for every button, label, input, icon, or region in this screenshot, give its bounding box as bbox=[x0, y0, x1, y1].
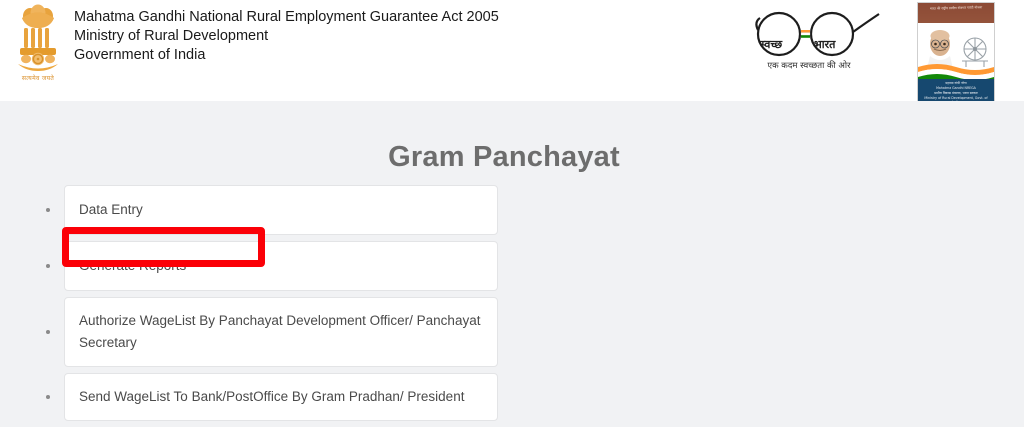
poster-bottom-text-1: महात्मा गांधी नरेगा bbox=[921, 81, 991, 85]
menu-item-label: Authorize WageList By Panchayat Developm… bbox=[79, 310, 483, 354]
header-branding: सत्यमेव जयते Mahatma Gandhi National Rur… bbox=[12, 4, 499, 82]
gandhi-poster-image: भारत की राष्ट्रीय ग्रामीण रोजगार गारंटी … bbox=[917, 2, 995, 102]
gram-panchayat-menu-list: Data Entry Generate Reports Authorize Wa… bbox=[38, 185, 498, 427]
site-header: सत्यमेव जयते Mahatma Gandhi National Rur… bbox=[0, 0, 1024, 101]
poster-bottom-text-2: Mahatma Gandhi NREGA bbox=[921, 86, 991, 90]
menu-item-send-wagelist[interactable]: Send WageList To Bank/PostOffice By Gram… bbox=[64, 373, 498, 421]
header-title-line-2: Ministry of Rural Development bbox=[74, 27, 499, 46]
list-item[interactable]: Generate Reports bbox=[38, 241, 498, 291]
menu-item-generate-reports[interactable]: Generate Reports bbox=[64, 241, 498, 291]
list-item[interactable]: Authorize WageList By Panchayat Developm… bbox=[38, 297, 498, 367]
list-item[interactable]: Data Entry bbox=[38, 185, 498, 235]
main-content: Gram Panchayat Data Entry Generate Repor… bbox=[0, 101, 1024, 418]
poster-bottom-band: महात्मा गांधी नरेगा Mahatma Gandhi NREGA… bbox=[918, 79, 994, 101]
swachh-lens-right-text: भारत bbox=[814, 37, 835, 52]
emblem-caption: सत्यमेव जयते bbox=[12, 74, 64, 82]
ashoka-emblem-icon: सत्यमेव जयते bbox=[12, 4, 64, 82]
menu-item-label: Generate Reports bbox=[79, 255, 186, 277]
header-title-block: Mahatma Gandhi National Rural Employment… bbox=[74, 4, 499, 65]
header-title-line-3: Government of India bbox=[74, 46, 499, 65]
menu-item-label: Send WageList To Bank/PostOffice By Gram… bbox=[79, 386, 464, 408]
menu-item-authorize-wagelist[interactable]: Authorize WageList By Panchayat Developm… bbox=[64, 297, 498, 367]
menu-item-data-entry[interactable]: Data Entry bbox=[64, 185, 498, 235]
page-title: Gram Panchayat bbox=[0, 141, 1008, 174]
swachh-lens-left-text: स्वच्छ bbox=[760, 37, 782, 52]
swachh-bharat-tagline: एक कदम स्वच्छता की ओर bbox=[748, 60, 870, 71]
list-item[interactable]: Send WageList To Bank/PostOffice By Gram… bbox=[38, 373, 498, 421]
header-title-line-1: Mahatma Gandhi National Rural Employment… bbox=[74, 8, 499, 27]
menu-item-label: Data Entry bbox=[79, 199, 143, 221]
swachh-bharat-glasses-icon: स्वच्छ भारत एक कदम स्वच्छता की ओर bbox=[748, 8, 888, 80]
poster-top-text: भारत की राष्ट्रीय ग्रामीण रोजगार गारंटी … bbox=[922, 5, 990, 11]
